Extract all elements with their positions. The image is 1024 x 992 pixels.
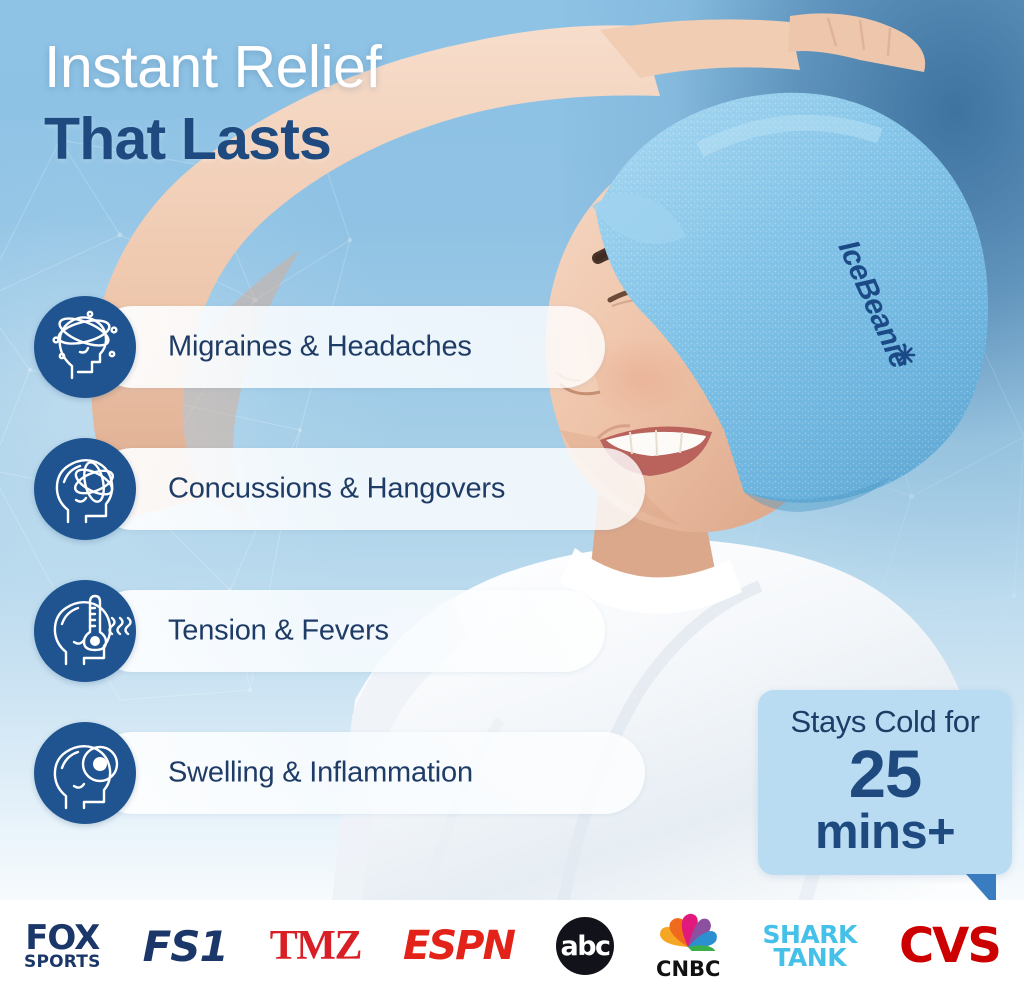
- cnbc-peacock-icon: [657, 911, 719, 951]
- feature-label: Migraines & Headaches: [168, 331, 472, 364]
- feature-label: Concussions & Hangovers: [168, 473, 505, 506]
- logo-espn: ESPN: [403, 923, 514, 969]
- feature-item-concussions[interactable]: Concussions & Hangovers: [0, 438, 640, 540]
- feature-item-migraines[interactable]: Migraines & Headaches: [0, 296, 640, 398]
- logo-shark-tank: SHARK TANK: [763, 923, 857, 969]
- head-scribble-icon: [34, 438, 136, 540]
- logo-abc: abc: [556, 917, 614, 975]
- logo-abc-text: abc: [560, 931, 609, 962]
- badge-number: 25: [768, 742, 1002, 808]
- stays-cold-badge: Stays Cold for 25 mins+: [758, 690, 1012, 875]
- logo-tmz: TMZ: [270, 922, 361, 970]
- headline-line-2: That Lasts: [44, 110, 381, 169]
- dizzy-head-icon: [34, 296, 136, 398]
- advertisement-canvas: IceBeanie Instant Relief That Lasts Migr…: [0, 0, 1024, 992]
- logo-shark-tank-line2: TANK: [763, 946, 857, 969]
- press-logo-strip: FOX SPORTS FS1 TMZ ESPN abc CNBC: [0, 900, 1024, 992]
- badge-box: Stays Cold for 25 mins+: [758, 690, 1012, 875]
- logo-cnbc: CNBC: [656, 911, 720, 981]
- head-thermometer-icon: [34, 580, 136, 682]
- logo-cnbc-text: CNBC: [656, 957, 720, 981]
- logo-fox-sports-line1: FOX: [24, 921, 101, 955]
- feature-item-swelling[interactable]: Swelling & Inflammation: [0, 722, 640, 824]
- headline: Instant Relief That Lasts: [44, 38, 381, 169]
- head-swelling-icon: [34, 722, 136, 824]
- logo-fox-sports: FOX SPORTS: [24, 921, 101, 971]
- feature-item-tension[interactable]: Tension & Fevers: [0, 580, 640, 682]
- headline-line-1: Instant Relief: [44, 38, 381, 97]
- feature-label: Swelling & Inflammation: [168, 757, 473, 790]
- logo-fs1: FS1: [143, 922, 228, 971]
- logo-cvs: CVS: [899, 918, 1000, 974]
- logo-fox-sports-line2: SPORTS: [24, 954, 101, 971]
- badge-top-text: Stays Cold for: [768, 704, 1002, 740]
- badge-unit: mins+: [768, 808, 1002, 857]
- feature-list: Migraines & Headaches: [0, 296, 640, 824]
- feature-label: Tension & Fevers: [168, 615, 389, 648]
